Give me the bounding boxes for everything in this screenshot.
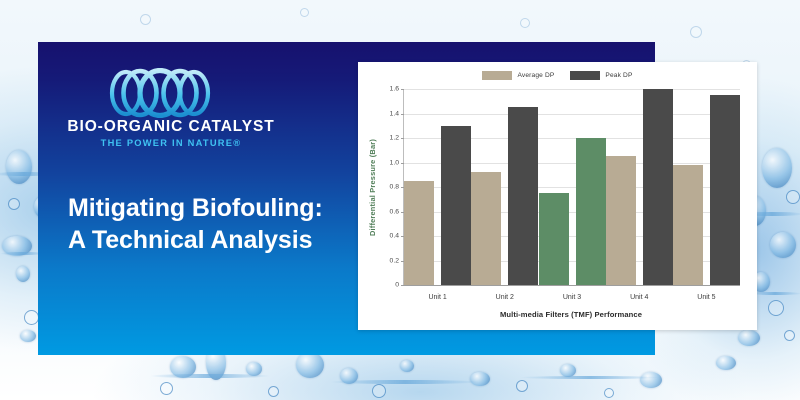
- bar-chart: Average DPPeak DP Differential Pressure …: [358, 62, 757, 330]
- legend-item[interactable]: Average DP: [482, 71, 554, 80]
- y-tick-label: 0.6: [390, 208, 399, 215]
- bar[interactable]: [710, 95, 740, 285]
- page-title-line2: A Technical Analysis: [68, 224, 368, 256]
- plot-area: 00.20.40.60.81.01.21.41.6 Unit 1Unit 2Un…: [403, 89, 740, 286]
- gridline: [404, 285, 740, 286]
- bar-group: Unit 1: [404, 89, 471, 285]
- bar[interactable]: [471, 172, 501, 285]
- page-title: Mitigating Biofouling: A Technical Analy…: [68, 192, 368, 256]
- x-tick-label: Unit 5: [673, 294, 740, 301]
- bar[interactable]: [576, 138, 606, 285]
- brand-logo: BIO-ORGANIC CATALYST THE POWER IN NATURE…: [66, 68, 276, 158]
- bar-group: Unit 5: [673, 89, 740, 285]
- bar[interactable]: [441, 126, 471, 285]
- y-axis-label: Differential Pressure (Bar): [366, 89, 378, 285]
- y-tick-mark: [401, 285, 404, 286]
- bar[interactable]: [606, 156, 636, 285]
- y-tick-label: 0: [395, 282, 399, 289]
- y-tick-label: 1.4: [390, 110, 399, 117]
- bar-group: Unit 2: [471, 89, 538, 285]
- x-tick-label: Unit 4: [606, 294, 673, 301]
- bar[interactable]: [643, 89, 673, 285]
- chart-card: Average DPPeak DP Differential Pressure …: [358, 62, 757, 330]
- x-tick-label: Unit 2: [471, 294, 538, 301]
- legend-swatch: [570, 71, 600, 80]
- bar-group: Unit 3: [538, 89, 605, 285]
- x-axis-label: Multi-media Filters (TMF) Performance: [403, 310, 739, 319]
- overlapping-rings-logo-icon: [100, 68, 220, 118]
- y-tick-label: 1.0: [390, 159, 399, 166]
- y-tick-label: 0.8: [390, 184, 399, 191]
- chart-legend: Average DPPeak DP: [358, 71, 757, 80]
- y-tick-label: 0.4: [390, 233, 399, 240]
- bar-group: Unit 4: [606, 89, 673, 285]
- bar[interactable]: [508, 107, 538, 285]
- brand-tagline: THE POWER IN NATURE®: [66, 138, 276, 148]
- x-tick-label: Unit 1: [404, 294, 471, 301]
- y-tick-label: 1.2: [390, 135, 399, 142]
- bar-groups: Unit 1Unit 2Unit 3Unit 4Unit 5: [404, 89, 740, 285]
- bar[interactable]: [539, 193, 569, 285]
- page-title-line1: Mitigating Biofouling:: [68, 192, 368, 224]
- bar[interactable]: [673, 165, 703, 285]
- legend-swatch: [482, 71, 512, 80]
- brand-name: BIO-ORGANIC CATALYST: [66, 118, 276, 136]
- legend-item[interactable]: Peak DP: [570, 71, 632, 80]
- legend-label: Peak DP: [605, 72, 632, 79]
- x-tick-label: Unit 3: [538, 294, 605, 301]
- legend-label: Average DP: [517, 72, 554, 79]
- y-tick-label: 0.2: [390, 257, 399, 264]
- slide-canvas: BIO-ORGANIC CATALYST THE POWER IN NATURE…: [0, 0, 800, 400]
- y-tick-label: 1.6: [390, 86, 399, 93]
- bar[interactable]: [404, 181, 434, 285]
